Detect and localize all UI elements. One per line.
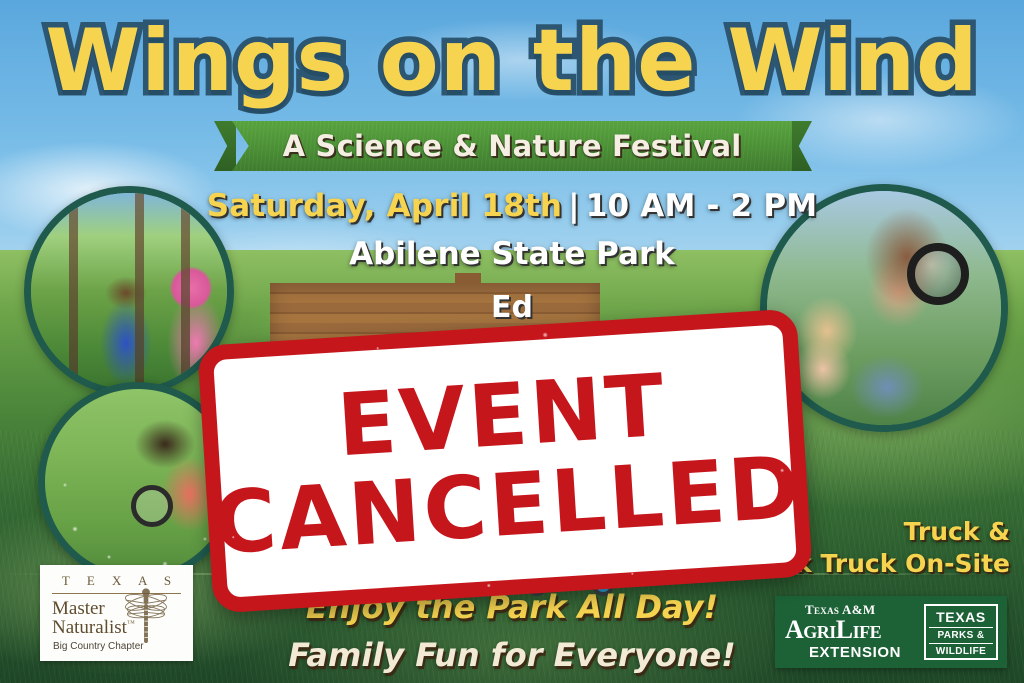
event-venue: Abilene State Park	[0, 236, 1024, 272]
logo-texas-am-agrilife: Texas A&M AgriLife EXTENSION	[785, 602, 925, 661]
agrilife-wordmark: AgriLife	[785, 618, 925, 643]
logo-texas-parks-wildlife: TEXAS PARKS & WILDLIFE	[924, 604, 998, 660]
event-time: 10 AM - 2 PM	[586, 188, 818, 224]
page-title: Wings on the Wind	[0, 16, 1024, 106]
subtitle-text: A Science & Nature Festival	[232, 121, 792, 171]
tpwd-line-2: PARKS &	[928, 630, 994, 641]
event-poster: Wings on the Wind A Science & Nature Fes…	[0, 0, 1024, 683]
tpwd-line-3: WILDLIFE	[928, 646, 994, 657]
occluded-description-text: Ed	[0, 290, 1024, 325]
stamp-line-cancelled: CANCELLED	[211, 445, 805, 566]
date-time-separator: |	[562, 188, 586, 224]
mn-chapter-label: Big Country Chapter	[53, 641, 144, 652]
tpwd-line-1: TEXAS	[928, 609, 994, 625]
logo-bar-sponsors: Texas A&M AgriLife EXTENSION TEXAS PARKS…	[775, 596, 1007, 668]
logo-texas-master-naturalist: T E X A S Master Naturalist™ Big Country…	[40, 565, 193, 661]
event-date: Saturday, April 18th	[207, 188, 563, 224]
mn-naturalist-label: Naturalist™	[52, 618, 135, 638]
agrilife-extension: EXTENSION	[785, 644, 925, 661]
event-date-time: Saturday, April 18th|10 AM - 2 PM	[0, 188, 1024, 224]
event-cancelled-stamp: EVENT CANCELLED	[197, 308, 813, 613]
mn-trademark: ™	[127, 619, 135, 628]
